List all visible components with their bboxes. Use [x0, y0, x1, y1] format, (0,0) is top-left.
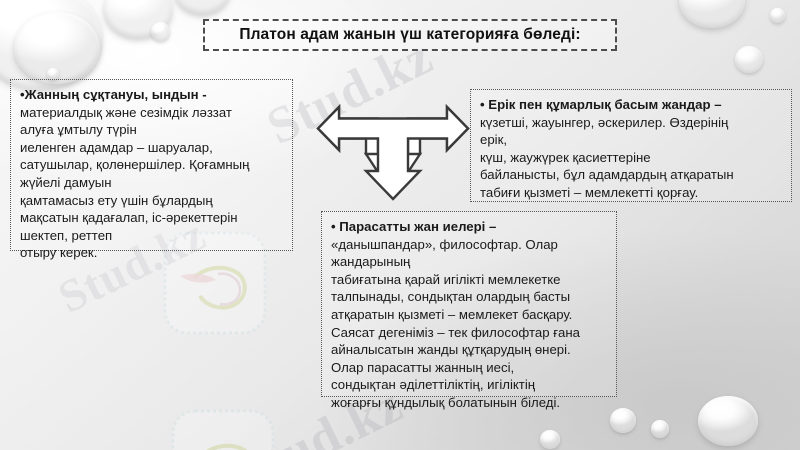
text-line: қамтамасыз ету үшін бұлардың: [20, 192, 287, 210]
text-line: сатушылар, қолөнершілер. Қоғамның: [20, 156, 287, 174]
page-title: Платон адам жанын үш категорияға бөледі:: [239, 26, 580, 44]
text-line: байланысты, бұл адамдардың атқаратын: [480, 166, 786, 184]
text-line: алуға ұмтылу түрін: [20, 121, 287, 139]
text-line: сондықтан әділеттіліктің, игіліктің: [331, 376, 611, 394]
text-line: жүйелі дамуын: [20, 174, 287, 192]
category-box-appetitive: •Жанның сұқтануы, ындын - материалдық жә…: [10, 79, 293, 251]
three-way-arrow-icon: [316, 85, 470, 202]
text-line: жандарының: [331, 253, 611, 271]
water-droplet-decoration: [698, 396, 758, 446]
text-line: талпынады, сондықтан олардың басты: [331, 288, 611, 306]
text-line: Саясат дегеніміз – тек философтар ғана: [331, 324, 611, 342]
text-line: күзетші, жауынгер, әскерилер. Өздерінің: [480, 114, 786, 132]
category-bottom-text: • Парасатты жан иелері – «данышпандар», …: [322, 212, 618, 412]
text-line: • Парасатты жан иелері –: [331, 218, 611, 236]
water-droplet-decoration: [651, 420, 669, 438]
text-line: •Жанның сұқтануы, ындын -: [20, 86, 287, 104]
text-line: материалдық және сезімдік ләззат: [20, 104, 287, 122]
text-line: айналысатын жанды құтқарудың өнері.: [331, 341, 611, 359]
water-droplet-decoration: [151, 22, 170, 41]
text-line: шектеп, реттеп: [20, 227, 287, 245]
text-line: табиғатына қарай игілікті мемлекетке: [331, 271, 611, 289]
water-droplet-decoration: [174, 0, 230, 14]
text-line: ерік,: [480, 131, 786, 149]
text-line: • Ерік пен құмарлық басым жандар –: [480, 96, 786, 114]
category-box-spirited: • Ерік пен құмарлық басым жандар – күзет…: [470, 89, 792, 202]
category-right-text: • Ерік пен құмарлық басым жандар – күзет…: [471, 90, 793, 202]
hummingbird-logo-watermark: [168, 406, 278, 450]
slide-title-box: Платон адам жанын үш категорияға бөледі:: [203, 19, 617, 51]
water-droplet-decoration: [679, 0, 745, 28]
water-droplet-decoration: [610, 408, 636, 433]
text-line: отыру керек.: [20, 244, 287, 262]
slide-canvas: Stud.kz Stud.kz Stud.kz Платон адам жаны…: [0, 0, 800, 450]
water-droplet-decoration: [14, 12, 100, 84]
text-line: күш, жаужүрек қасиеттеріне: [480, 149, 786, 167]
water-droplet-decoration: [735, 46, 763, 73]
category-box-rational: • Парасатты жан иелері – «данышпандар», …: [321, 211, 617, 397]
text-line: жоғарғы құндылық болатынын біледі.: [331, 394, 611, 412]
text-line: иеленген адамдар – шаруалар,: [20, 139, 287, 157]
category-left-text: •Жанның сұқтануы, ындын - материалдық жә…: [11, 80, 294, 262]
text-line: «данышпандар», философтар. Олар: [331, 236, 611, 254]
text-line: атқаратын қызметі – мемлекет басқару.: [331, 306, 611, 324]
water-droplet-decoration: [770, 8, 785, 23]
water-droplet-decoration: [0, 0, 102, 89]
text-line: мақсатын қадағалап, іс-әрекеттерін: [20, 209, 287, 227]
text-line: Олар парасатты жанның иесі,: [331, 359, 611, 377]
text-line: табиғи қызметі – мемлекетті қорғау.: [480, 184, 786, 202]
water-droplet-decoration: [540, 430, 560, 449]
water-droplet-decoration: [104, 0, 172, 38]
